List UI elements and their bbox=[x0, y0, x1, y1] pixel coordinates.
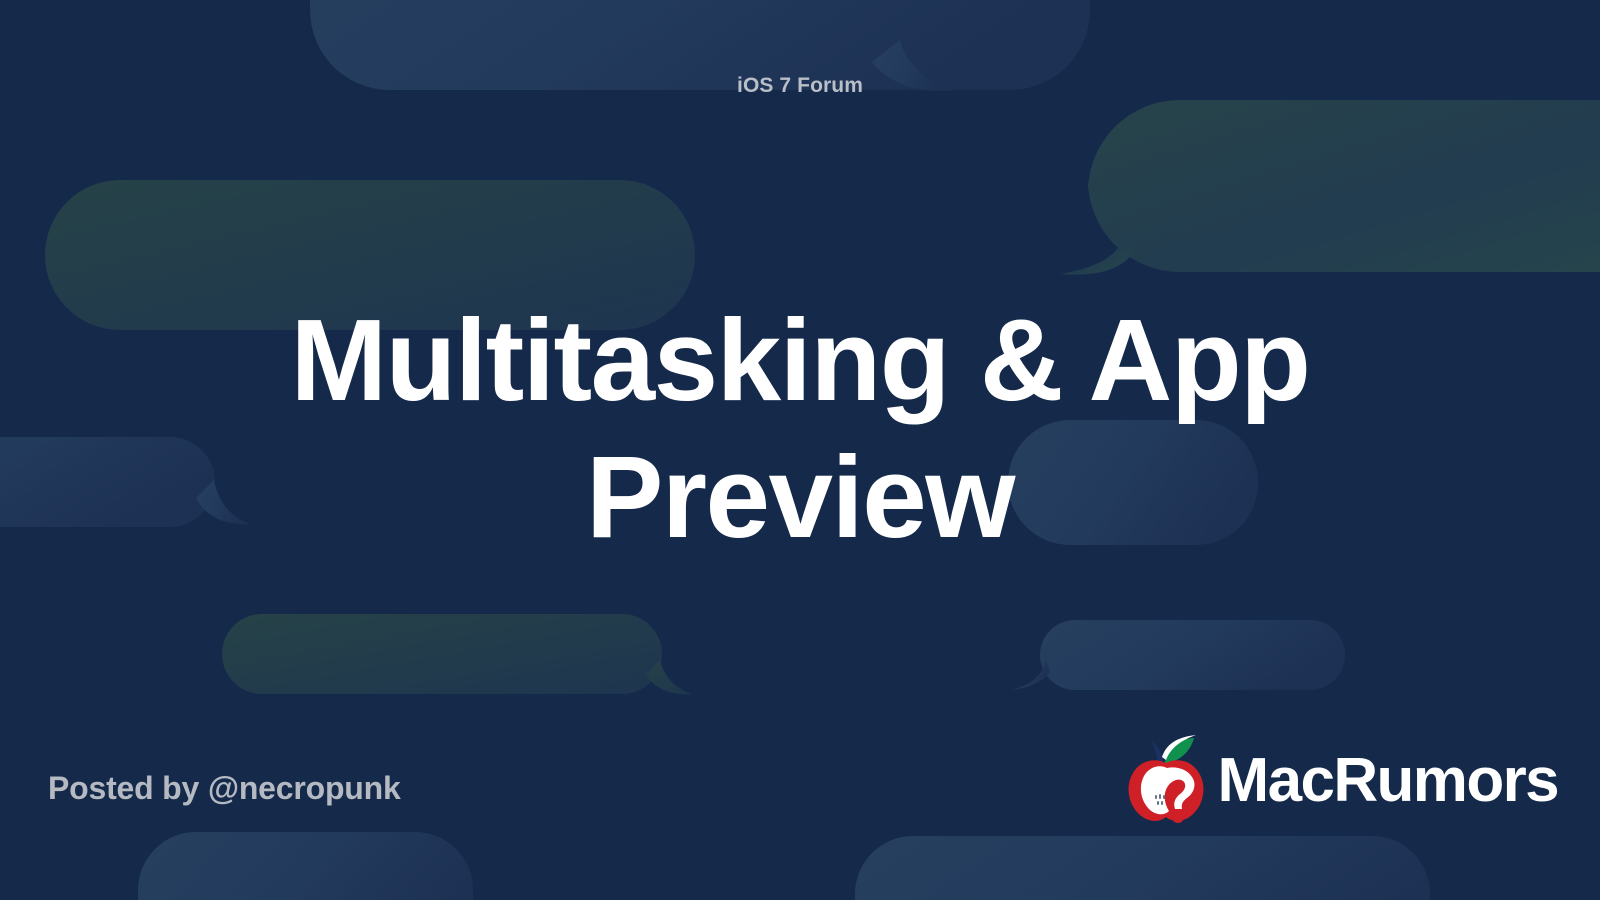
apple-question-dot bbox=[1172, 811, 1184, 823]
macrumors-apple-icon bbox=[1118, 733, 1214, 825]
apple-stem bbox=[1150, 739, 1164, 763]
page-title: Multitasking & App Preview bbox=[100, 292, 1500, 566]
card-content: iOS 7 Forum Multitasking & App Preview P… bbox=[0, 0, 1600, 900]
brand-lockup: MacRumors bbox=[1118, 733, 1558, 825]
forum-label: iOS 7 Forum bbox=[0, 74, 1600, 98]
posted-by-label: Posted by @necropunk bbox=[48, 770, 401, 807]
brand-name: MacRumors bbox=[1218, 750, 1558, 812]
social-share-card: iOS 7 Forum Multitasking & App Preview P… bbox=[0, 0, 1600, 900]
post-title-wrapper: Multitasking & App Preview bbox=[100, 292, 1500, 566]
